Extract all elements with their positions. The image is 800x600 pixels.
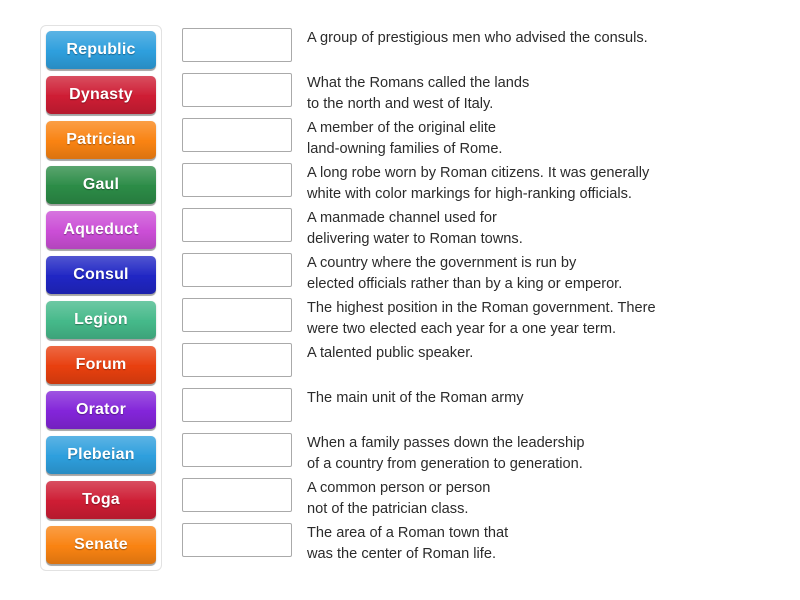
definition-text: The area of a Roman town that was the ce…: [307, 520, 508, 565]
word-tile-label: Forum: [76, 356, 127, 374]
word-tile[interactable]: Dynasty: [46, 76, 156, 114]
word-tile[interactable]: Forum: [46, 346, 156, 384]
answer-dropzone[interactable]: [182, 163, 292, 197]
word-tile-label: Dynasty: [69, 86, 133, 104]
match-up-activity: RepublicDynastyPatricianGaulAqueductCons…: [0, 0, 800, 600]
definition-text: A common person or person not of the pat…: [307, 475, 490, 520]
answer-dropzone[interactable]: [182, 478, 292, 512]
definition-row: A long robe worn by Roman citizens. It w…: [182, 160, 800, 205]
definition-row: A country where the government is run by…: [182, 250, 800, 295]
definition-text: A country where the government is run by…: [307, 250, 622, 295]
answer-dropzone[interactable]: [182, 28, 292, 62]
definition-text: A talented public speaker.: [307, 340, 473, 364]
word-tile-label: Orator: [76, 401, 126, 419]
answer-dropzone[interactable]: [182, 253, 292, 287]
definition-text: The main unit of the Roman army: [307, 385, 524, 409]
definition-row: A manmade channel used for delivering wa…: [182, 205, 800, 250]
definition-row: The highest position in the Roman govern…: [182, 295, 800, 340]
word-tile-label: Aqueduct: [63, 221, 138, 239]
word-tiles-panel: RepublicDynastyPatricianGaulAqueductCons…: [40, 25, 162, 571]
definition-rows-panel: A group of prestigious men who advised t…: [182, 25, 800, 565]
word-tile[interactable]: Patrician: [46, 121, 156, 159]
definition-row: What the Romans called the lands to the …: [182, 70, 800, 115]
word-tile[interactable]: Republic: [46, 31, 156, 69]
definition-row: A member of the original elite land-owni…: [182, 115, 800, 160]
word-tile[interactable]: Orator: [46, 391, 156, 429]
word-tile[interactable]: Legion: [46, 301, 156, 339]
answer-dropzone[interactable]: [182, 388, 292, 422]
word-tile-label: Patrician: [66, 131, 135, 149]
definition-row: A group of prestigious men who advised t…: [182, 25, 800, 70]
definition-text: When a family passes down the leadership…: [307, 430, 584, 475]
answer-dropzone[interactable]: [182, 433, 292, 467]
definition-row: A common person or person not of the pat…: [182, 475, 800, 520]
definition-text: A group of prestigious men who advised t…: [307, 25, 648, 49]
definition-text: The highest position in the Roman govern…: [307, 295, 656, 340]
word-tile[interactable]: Senate: [46, 526, 156, 564]
word-tile-label: Republic: [66, 41, 135, 59]
word-tile[interactable]: Plebeian: [46, 436, 156, 474]
definition-row: The area of a Roman town that was the ce…: [182, 520, 800, 565]
answer-dropzone[interactable]: [182, 208, 292, 242]
word-tile-label: Toga: [82, 491, 120, 509]
definition-text: What the Romans called the lands to the …: [307, 70, 529, 115]
definition-text: A manmade channel used for delivering wa…: [307, 205, 523, 250]
word-tile[interactable]: Consul: [46, 256, 156, 294]
definition-row: A talented public speaker.: [182, 340, 800, 385]
definition-text: A long robe worn by Roman citizens. It w…: [307, 160, 649, 205]
answer-dropzone[interactable]: [182, 298, 292, 332]
word-tile-label: Legion: [74, 311, 128, 329]
definition-text: A member of the original elite land-owni…: [307, 115, 502, 160]
word-tile-label: Consul: [73, 266, 128, 284]
answer-dropzone[interactable]: [182, 343, 292, 377]
definition-row: The main unit of the Roman army: [182, 385, 800, 430]
word-tile-label: Plebeian: [67, 446, 134, 464]
word-tile[interactable]: Aqueduct: [46, 211, 156, 249]
word-tile[interactable]: Gaul: [46, 166, 156, 204]
word-tile[interactable]: Toga: [46, 481, 156, 519]
answer-dropzone[interactable]: [182, 73, 292, 107]
answer-dropzone[interactable]: [182, 118, 292, 152]
answer-dropzone[interactable]: [182, 523, 292, 557]
word-tile-label: Senate: [74, 536, 128, 554]
word-tile-label: Gaul: [83, 176, 119, 194]
definition-row: When a family passes down the leadership…: [182, 430, 800, 475]
